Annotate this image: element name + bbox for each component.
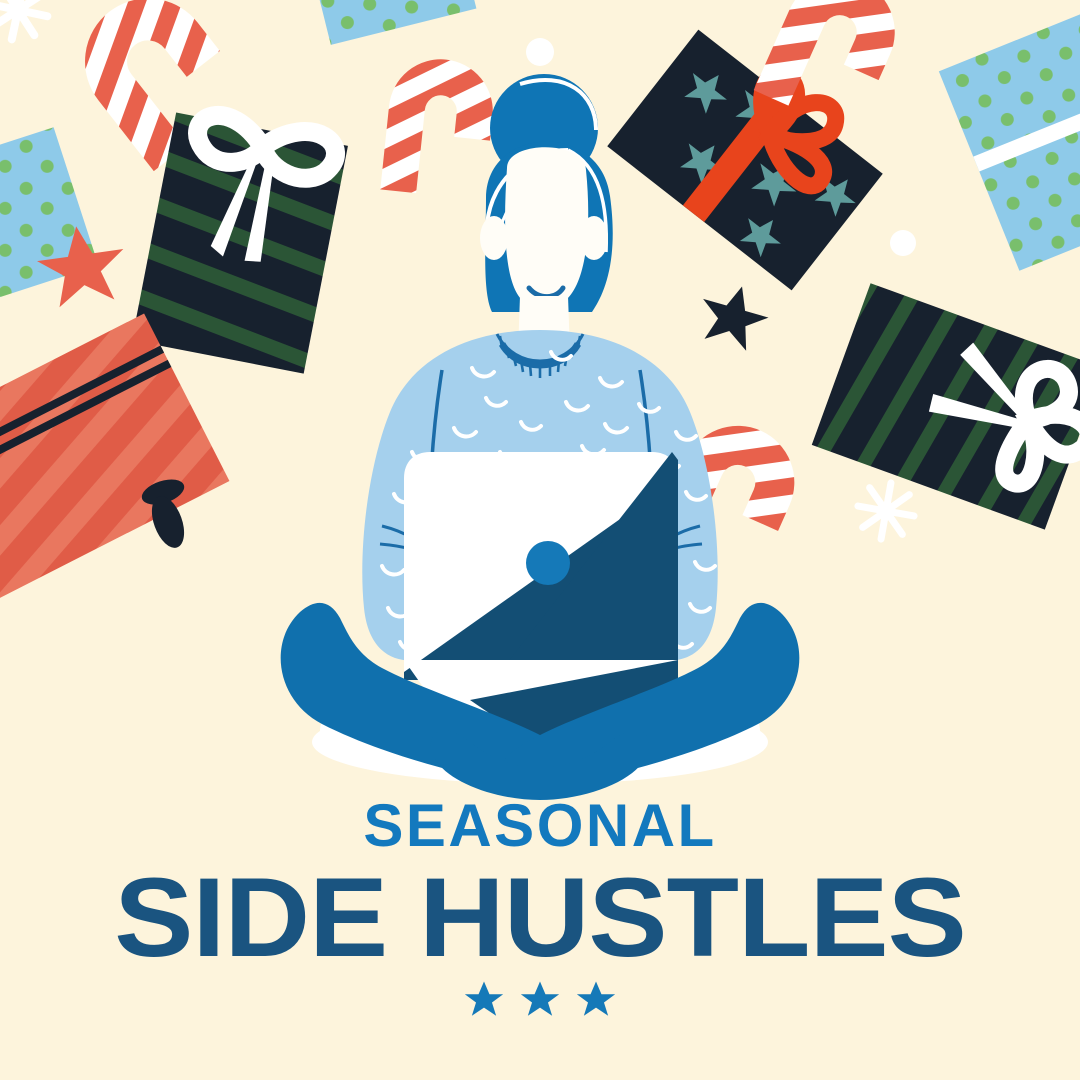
- snow-dot-right: [890, 230, 916, 256]
- holiday-illustration: [0, 0, 1080, 1080]
- laptop-logo-icon: [526, 541, 570, 585]
- snow-dot-top-center: [526, 38, 554, 66]
- face: [505, 147, 588, 309]
- poster-canvas: SEASONAL SIDE HUSTLES: [0, 0, 1080, 1080]
